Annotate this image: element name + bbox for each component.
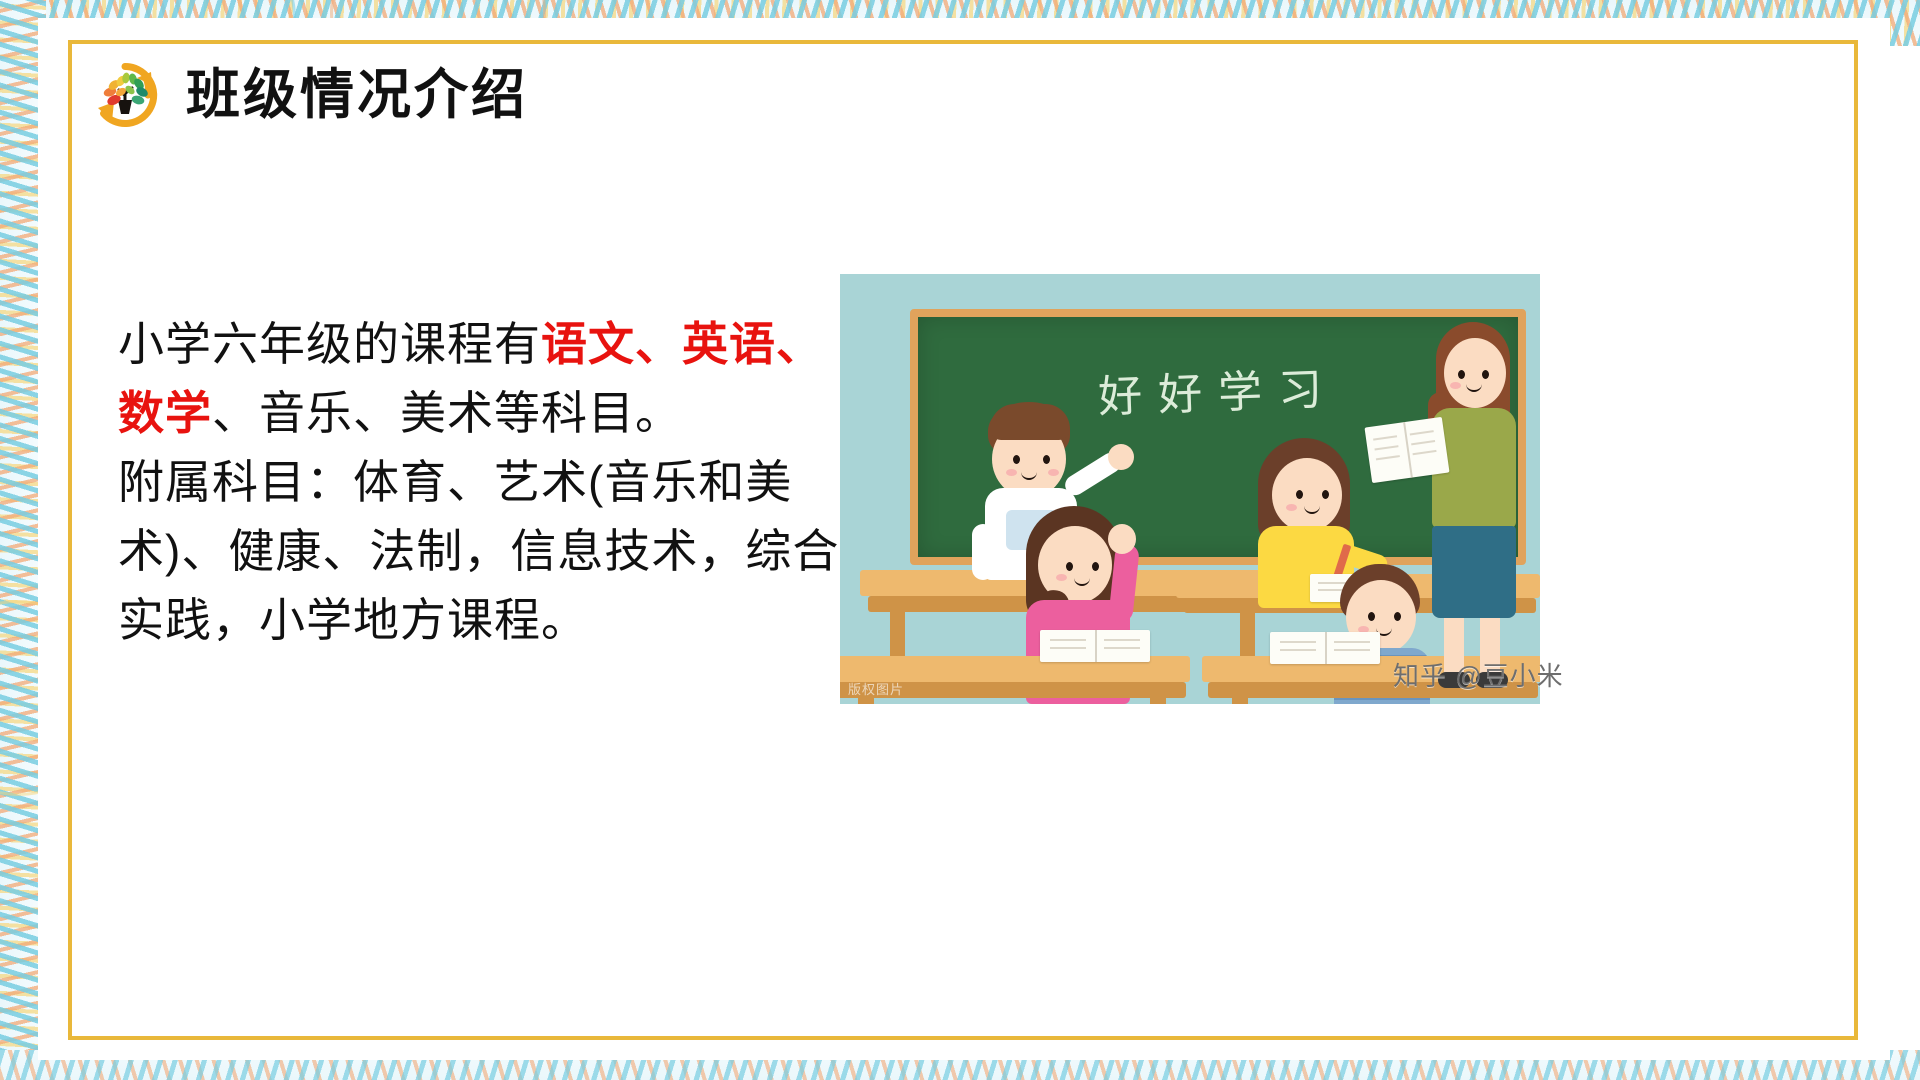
body-line-5: 实践，小学地方课程。: [118, 586, 858, 655]
classroom-illustration: 好好学习: [840, 274, 1540, 704]
teacher-book: [1364, 417, 1449, 483]
copyright-watermark: 版权图片: [848, 679, 904, 698]
slide-page: 班级情况介绍 小学六年级的课程有语文、英语、 数学、音乐、美术等科目。 附属科目…: [38, 18, 1890, 1060]
open-book: [1040, 630, 1150, 662]
body-line-2-highlight: 数学: [118, 387, 212, 439]
body-line-1-plain: 小学六年级的课程有: [118, 318, 541, 370]
open-book: [1270, 632, 1380, 664]
tree-recycle-logo-icon: [90, 60, 160, 130]
zhihu-watermark: 知乎 @豆小米: [1393, 656, 1876, 1050]
page-title: 班级情况介绍: [186, 68, 528, 122]
desk-leg: [858, 698, 874, 704]
body-line-4: 术)、健康、法制，信息技术，综合: [118, 517, 858, 586]
slide-canvas: 班级情况介绍 小学六年级的课程有语文、英语、 数学、音乐、美术等科目。 附属科目…: [0, 0, 1920, 1080]
body-text-block: 小学六年级的课程有语文、英语、 数学、音乐、美术等科目。 附属科目：体育、艺术(…: [118, 310, 858, 655]
body-line-1: 小学六年级的课程有语文、英语、: [118, 310, 858, 379]
body-line-2-plain: 、音乐、美术等科目。: [212, 387, 682, 439]
body-line-3: 附属科目：体育、艺术(音乐和美: [118, 448, 858, 517]
slide-header: 班级情况介绍: [90, 60, 528, 130]
body-line-2: 数学、音乐、美术等科目。: [118, 379, 858, 448]
desk-leg: [1150, 698, 1166, 704]
desk-leg: [1232, 698, 1248, 704]
body-line-1-highlight: 语文、英语、: [541, 318, 823, 370]
